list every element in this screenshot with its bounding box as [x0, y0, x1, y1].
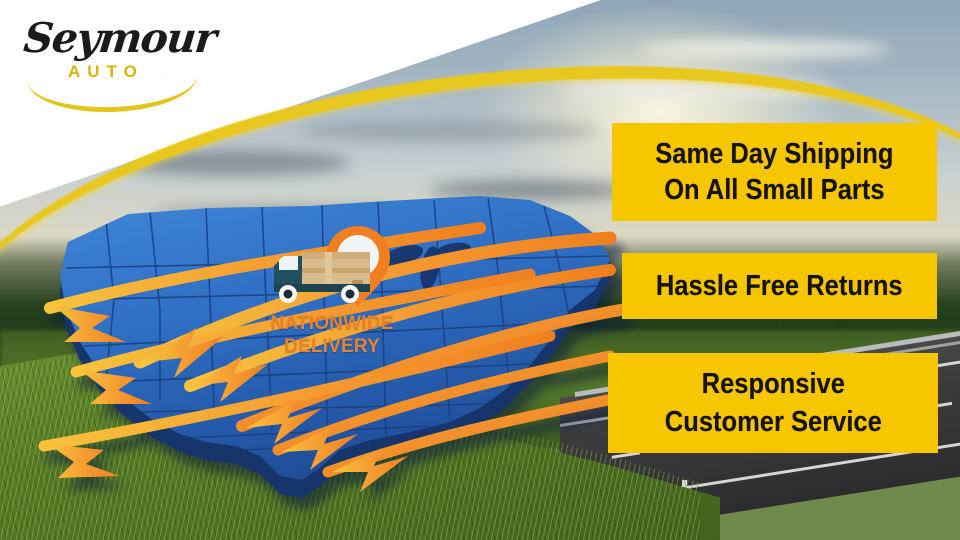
delivery-label-line2: DELIVERY — [284, 336, 380, 357]
claim-2-text: Hassle Free Returns — [656, 269, 903, 303]
brand-logo[interactable]: Seymour AUTO — [20, 14, 210, 100]
claim-1-line2: On All Small Parts — [655, 172, 893, 208]
delivery-label: NATIONWIDE DELIVERY — [262, 312, 402, 358]
nationwide-delivery-badge: NATIONWIDE DELIVERY — [262, 222, 402, 367]
claim-3-line2: Customer Service — [664, 403, 881, 441]
delivery-truck-icon — [274, 252, 370, 303]
brand-name-script: Seymour — [21, 14, 217, 62]
claim-2-line1: Hassle Free Returns — [656, 269, 903, 303]
delivery-icon-group — [262, 222, 402, 322]
claim-1-line1: Same Day Shipping — [655, 136, 893, 172]
claim-box-same-day-shipping[interactable]: Same Day Shipping On All Small Parts — [612, 123, 937, 221]
claim-box-responsive-customer-service[interactable]: Responsive Customer Service — [608, 353, 938, 453]
claim-1-text: Same Day Shipping On All Small Parts — [655, 136, 893, 208]
claim-3-line1: Responsive — [664, 365, 881, 403]
promo-banner: Seymour AUTO — [0, 0, 960, 540]
delivery-label-line1: NATIONWIDE — [270, 313, 393, 334]
claim-box-hassle-free-returns[interactable]: Hassle Free Returns — [622, 253, 937, 319]
claim-3-text: Responsive Customer Service — [664, 365, 881, 441]
